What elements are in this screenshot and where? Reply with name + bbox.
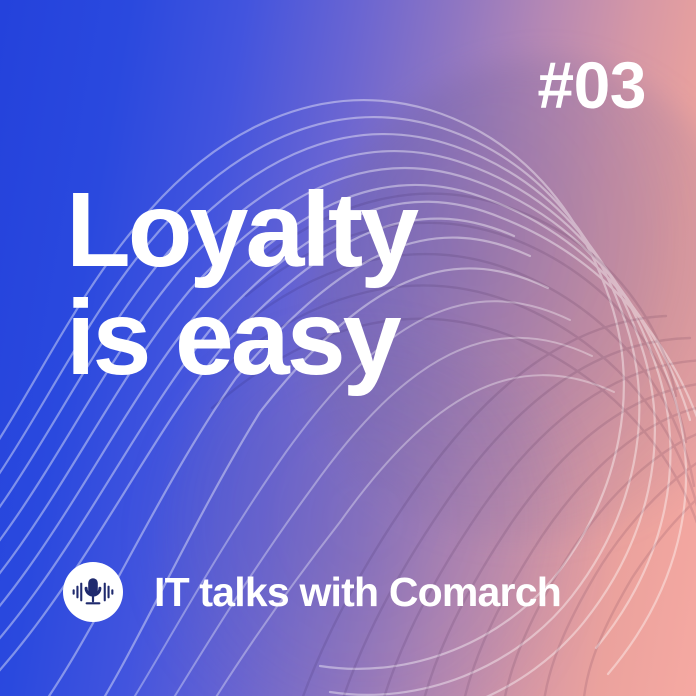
episode-title: Loyalty is easy	[66, 176, 416, 392]
brand-footer: IT talks with Comarch	[63, 562, 561, 622]
episode-title-line-1: Loyalty	[66, 176, 416, 284]
episode-title-line-2: is easy	[66, 284, 416, 392]
podcast-cover-art: #03 Loyalty is easy	[0, 0, 696, 696]
brand-name: IT talks with Comarch	[154, 572, 561, 613]
microphone-icon	[72, 575, 114, 609]
issue-number: #03	[537, 52, 646, 118]
microphone-badge	[63, 562, 123, 622]
